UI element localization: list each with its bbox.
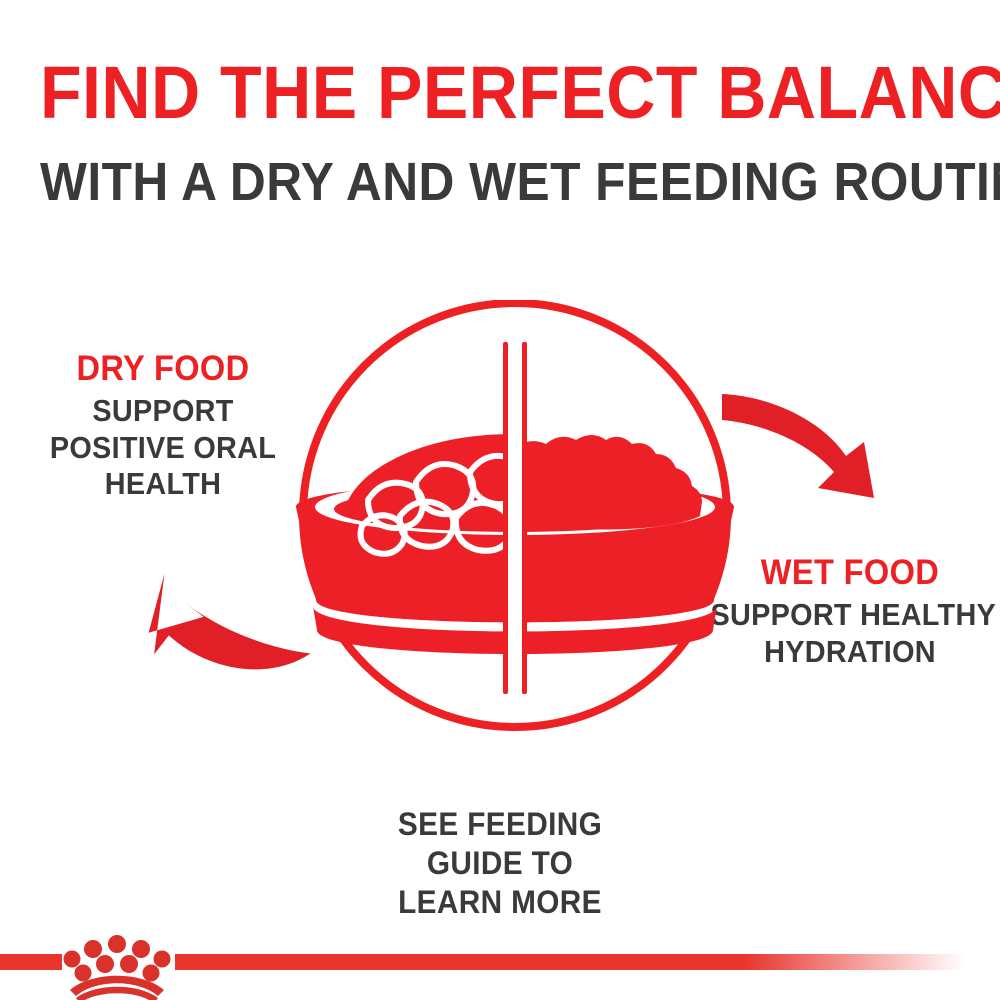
footer-bar-right <box>175 954 965 970</box>
infographic-canvas: FIND THE PERFECT BALANCE WITH A DRY AND … <box>0 0 1000 1000</box>
brand-footer <box>0 928 1000 1000</box>
divider-line-left <box>503 342 508 694</box>
feeding-guide-caption: SEE FEEDING GUIDE TO LEARN MORE <box>319 805 682 922</box>
divider-line-right <box>522 342 527 694</box>
central-illustration <box>100 300 910 750</box>
page-subtitle: WITH A DRY AND WET FEEDING ROUTINE <box>40 155 960 209</box>
caption-line-2: GUIDE TO <box>319 844 682 883</box>
dry-food-arrow-icon <box>145 564 312 677</box>
caption-line-3: LEARN MORE <box>319 883 682 922</box>
page-title: FIND THE PERFECT BALANCE <box>40 56 960 130</box>
caption-line-1: SEE FEEDING <box>319 805 682 844</box>
footer-bar-left <box>0 954 62 970</box>
royal-canin-crown-logo <box>64 935 171 1000</box>
wet-food-mound <box>504 435 702 530</box>
wet-food-arrow-icon <box>722 394 874 498</box>
